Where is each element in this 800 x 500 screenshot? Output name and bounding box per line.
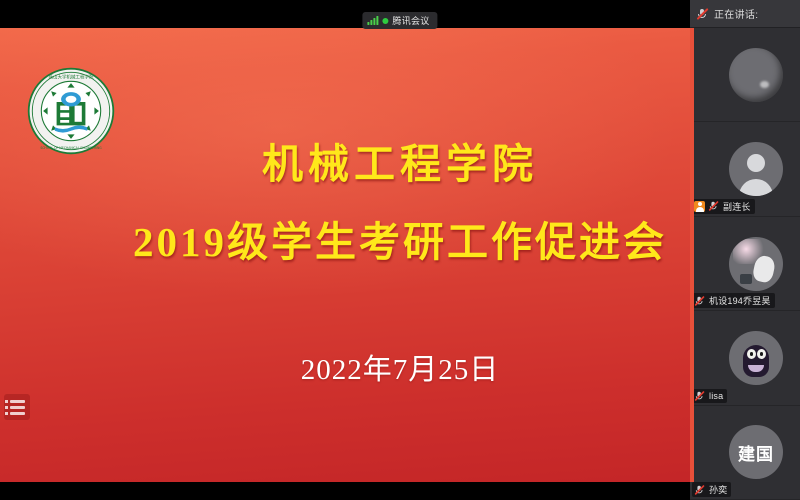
slide-date: 2022年7月25日 xyxy=(0,346,800,388)
sidebar-accent-bar xyxy=(690,28,694,482)
list-menu-icon[interactable] xyxy=(4,394,30,420)
recording-dot-icon xyxy=(382,18,388,24)
mic-muted-icon xyxy=(694,296,704,306)
participant-label: 机设194乔昱昊 xyxy=(692,293,775,308)
participant-name: 副连长 xyxy=(723,200,751,213)
mic-muted-icon xyxy=(708,201,718,211)
letterbox-top xyxy=(0,0,690,28)
app-name-label: 腾讯会议 xyxy=(392,14,429,27)
letterbox-bottom xyxy=(0,482,690,500)
slide-title: 机械工程学院 xyxy=(0,130,800,190)
cartoon-character-avatar xyxy=(729,331,783,385)
host-badge-icon xyxy=(694,201,705,212)
participant-name: lisa xyxy=(709,391,723,401)
participant-tile[interactable]: 建国 孙奕 xyxy=(690,406,800,500)
green-sphere-avatar xyxy=(729,48,783,102)
participant-tile[interactable] xyxy=(690,28,800,122)
meeting-status-pill[interactable]: 腾讯会议 xyxy=(362,12,437,29)
participant-tiles: 副连长 机设194乔昱昊 xyxy=(690,28,800,500)
participant-tile[interactable]: 机设194乔昱昊 xyxy=(690,217,800,311)
shared-slide[interactable]: 燕山大学机械工程学院 SCHOOL OF MECHANICAL ENGINEER… xyxy=(0,28,800,482)
mic-muted-icon xyxy=(694,391,704,401)
speaking-now-label: 正在讲话: xyxy=(714,6,758,21)
slide-subtitle: 2019级学生考研工作促进会 xyxy=(0,208,800,268)
default-person-avatar xyxy=(729,142,783,196)
mic-muted-icon xyxy=(694,484,704,494)
blue-initials-avatar: 建国 xyxy=(729,425,783,479)
cherry-blossom-photo-avatar xyxy=(729,237,783,291)
participants-sidebar: 正在讲话: 副连长 xyxy=(690,0,800,500)
participant-name: 机设194乔昱昊 xyxy=(709,294,771,307)
avatar-initials: 建国 xyxy=(738,440,774,465)
participant-tile[interactable]: lisa xyxy=(690,311,800,405)
participant-tile[interactable]: 副连长 xyxy=(690,122,800,216)
signal-bars-icon xyxy=(367,16,378,25)
participant-label: lisa xyxy=(692,389,727,403)
mic-muted-icon xyxy=(696,8,708,20)
participant-name: 孙奕 xyxy=(709,483,727,496)
meeting-screen: 燕山大学机械工程学院 SCHOOL OF MECHANICAL ENGINEER… xyxy=(0,0,800,500)
speaking-now-header: 正在讲话: xyxy=(690,0,800,28)
participant-label: 孙奕 xyxy=(692,482,731,497)
participant-label: 副连长 xyxy=(692,199,755,214)
